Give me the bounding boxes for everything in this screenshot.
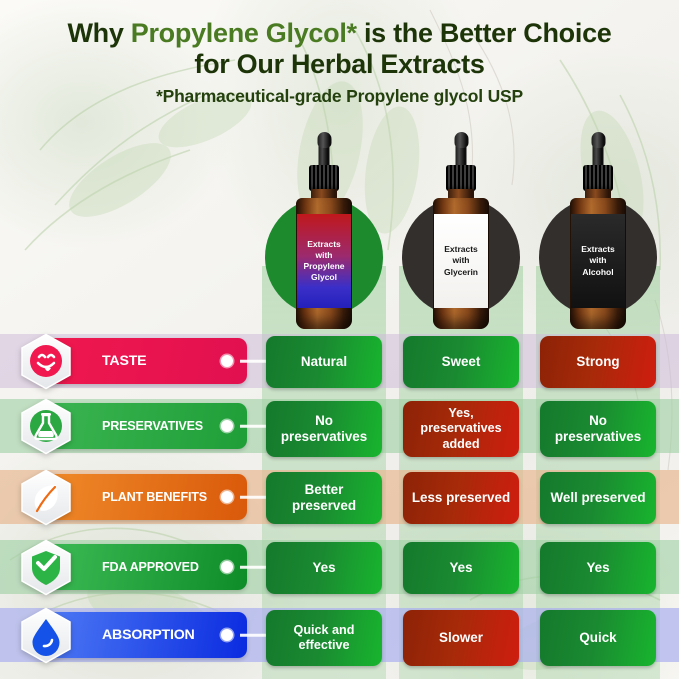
page-subtitle: *Pharmaceutical-grade Propylene glycol U… — [0, 86, 679, 107]
bottle-label-text: ExtractswithAlcohol — [581, 244, 615, 278]
cell-plant-benefits-pg: Better preserved — [266, 472, 382, 524]
cell-fda-approved-gly: Yes — [403, 542, 519, 594]
cell-text: Yes — [586, 560, 609, 576]
bottle-label-alc: ExtractswithAlcohol — [571, 214, 625, 308]
connector-dot-absorption — [221, 629, 233, 641]
title-highlight: Propylene Glycol* — [131, 18, 357, 48]
connector-dot-taste — [221, 355, 233, 367]
cell-absorption-pg: Quick and effective — [266, 610, 382, 666]
title-line-2: for Our Herbal Extracts — [194, 49, 484, 79]
category-row-fda-approved: FDA APPROVED — [0, 544, 300, 590]
cell-taste-alc: Strong — [540, 336, 656, 388]
water-drop-icon — [18, 607, 74, 664]
cell-taste-gly: Sweet — [403, 336, 519, 388]
cell-fda-approved-pg: Yes — [266, 542, 382, 594]
category-label-taste: TASTE — [102, 353, 146, 369]
alcohol-bottle: ExtractswithAlcohol — [538, 134, 658, 334]
bottle-cap — [583, 165, 613, 191]
cell-text: Quick — [579, 630, 616, 646]
connector-line-taste — [240, 360, 266, 363]
shield-check-icon — [18, 539, 74, 596]
connector-dot-fda-approved — [221, 561, 233, 573]
cell-text: Yes — [449, 560, 472, 576]
cell-text: No preservatives — [272, 413, 376, 445]
bottle-graphic-pg: ExtractswithPropyleneGlycol — [294, 134, 354, 334]
category-row-taste: TASTE — [0, 338, 300, 384]
category-label-plant-benefits: PLANT BENEFITS — [102, 490, 207, 504]
title-part-1: Why — [67, 18, 130, 48]
page-title: Why Propylene Glycol* is the Better Choi… — [0, 0, 679, 80]
category-label-absorption: ABSORPTION — [102, 627, 195, 643]
connector-line-plant-benefits — [240, 496, 266, 499]
bottle-label-text: ExtractswithGlycerin — [444, 244, 478, 278]
category-label-preservatives: PRESERVATIVES — [102, 419, 203, 433]
cell-preservatives-alc: No preservatives — [540, 401, 656, 457]
cell-text: Well preserved — [550, 490, 645, 506]
bottle-cap — [446, 165, 476, 191]
cell-text: Natural — [301, 354, 347, 370]
bottle-body-alc: ExtractswithAlcohol — [570, 198, 626, 329]
cell-text: Quick and effective — [272, 623, 376, 653]
connector-dot-plant-benefits — [221, 491, 233, 503]
bottle-label-gly: ExtractswithGlycerin — [434, 214, 488, 308]
connector-line-preservatives — [240, 425, 266, 428]
header: Why Propylene Glycol* is the Better Choi… — [0, 0, 679, 107]
cell-text: Yes — [312, 560, 335, 576]
cell-text: Slower — [439, 630, 483, 646]
category-row-absorption: ABSORPTION — [0, 612, 300, 658]
flask-icon — [18, 398, 74, 455]
cell-preservatives-gly: Yes, preservatives added — [403, 401, 519, 457]
connector-line-absorption — [240, 634, 266, 637]
bottle-label-text: ExtractswithPropyleneGlycol — [303, 239, 344, 284]
glycerin-bottle: ExtractswithGlycerin — [401, 134, 521, 334]
cell-absorption-alc: Quick — [540, 610, 656, 666]
dropper-bulb-icon — [591, 132, 605, 148]
cell-text: Yes, preservatives added — [409, 406, 513, 451]
category-label-fda-approved: FDA APPROVED — [102, 560, 199, 574]
title-part-2: is the Better Choice — [357, 18, 612, 48]
bottle-label-pg: ExtractswithPropyleneGlycol — [297, 214, 351, 308]
cell-text: No preservatives — [546, 413, 650, 445]
connector-line-fda-approved — [240, 566, 266, 569]
bottle-graphic-gly: ExtractswithGlycerin — [431, 134, 491, 334]
dropper-bulb-icon — [454, 132, 468, 148]
category-row-plant-benefits: PLANT BENEFITS — [0, 474, 300, 520]
cell-plant-benefits-gly: Less preserved — [403, 472, 519, 524]
cell-fda-approved-alc: Yes — [540, 542, 656, 594]
tongue-out-face-icon — [18, 333, 74, 390]
cell-text: Sweet — [442, 354, 481, 370]
cell-text: Strong — [576, 354, 619, 370]
propylene-glycol-bottle: ExtractswithPropyleneGlycol — [264, 134, 384, 334]
cell-plant-benefits-alc: Well preserved — [540, 472, 656, 524]
bottle-cap — [309, 165, 339, 191]
bottle-body-pg: ExtractswithPropyleneGlycol — [296, 198, 352, 329]
cell-preservatives-pg: No preservatives — [266, 401, 382, 457]
category-row-preservatives: PRESERVATIVES — [0, 403, 300, 449]
cell-absorption-gly: Slower — [403, 610, 519, 666]
dropper-bulb-icon — [317, 132, 331, 148]
cell-text: Better preserved — [272, 482, 376, 514]
cell-text: Less preserved — [412, 490, 510, 506]
bottle-body-gly: ExtractswithGlycerin — [433, 198, 489, 329]
cell-taste-pg: Natural — [266, 336, 382, 388]
connector-dot-preservatives — [221, 420, 233, 432]
bottle-graphic-alc: ExtractswithAlcohol — [568, 134, 628, 334]
leaf-icon — [18, 469, 74, 526]
